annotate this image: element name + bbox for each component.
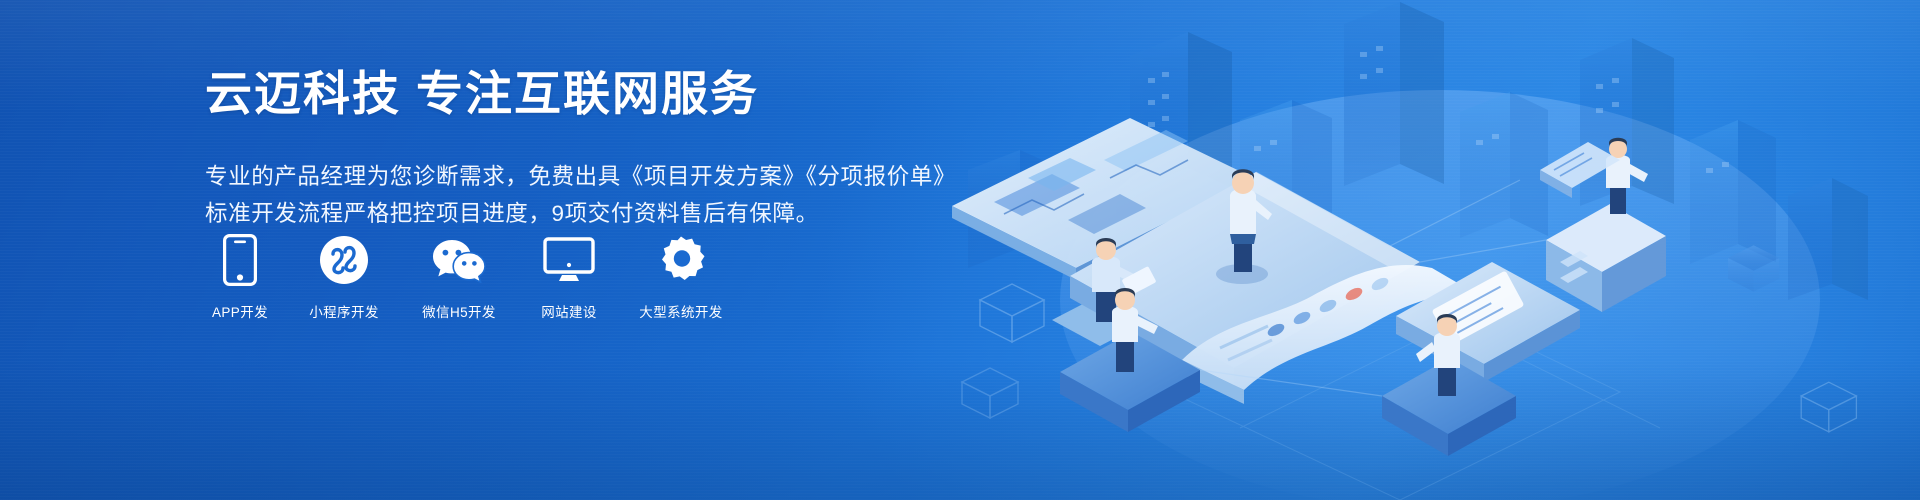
service-item-wechat[interactable]: 微信H5开发 <box>413 232 505 321</box>
page-title: 云迈科技 专注互联网服务 <box>205 66 905 121</box>
illustration-isometric-tech <box>920 0 1920 500</box>
subtitle-line-2: 标准开发流程严格把控项目进度，9项交付资料售后有保障。 <box>205 196 905 232</box>
service-item-system[interactable]: 大型系统开发 <box>633 232 729 321</box>
service-label: 微信H5开发 <box>422 301 496 321</box>
monitor-icon <box>541 232 597 288</box>
hero-copy: 云迈科技 专注互联网服务 专业的产品经理为您诊断需求，免费出具《项目开发方案》《… <box>205 66 905 232</box>
service-label: APP开发 <box>212 301 268 321</box>
gear-icon <box>653 232 709 288</box>
service-list: APP开发 小程序开发 <box>205 232 729 321</box>
hero-banner: 云迈科技 专注互联网服务 专业的产品经理为您诊断需求，免费出具《项目开发方案》《… <box>0 0 1920 500</box>
service-label: 网站建设 <box>541 301 597 321</box>
service-item-website[interactable]: 网站建设 <box>533 232 605 321</box>
service-label: 小程序开发 <box>309 301 379 321</box>
mobile-phone-icon <box>212 232 268 288</box>
wechat-icon <box>431 232 487 288</box>
mini-program-icon <box>316 232 372 288</box>
service-item-mini-program[interactable]: 小程序开发 <box>303 232 385 321</box>
subtitle-line-1: 专业的产品经理为您诊断需求，免费出具《项目开发方案》《分项报价单》 <box>205 159 905 195</box>
service-item-app[interactable]: APP开发 <box>205 232 275 321</box>
service-label: 大型系统开发 <box>639 301 722 321</box>
